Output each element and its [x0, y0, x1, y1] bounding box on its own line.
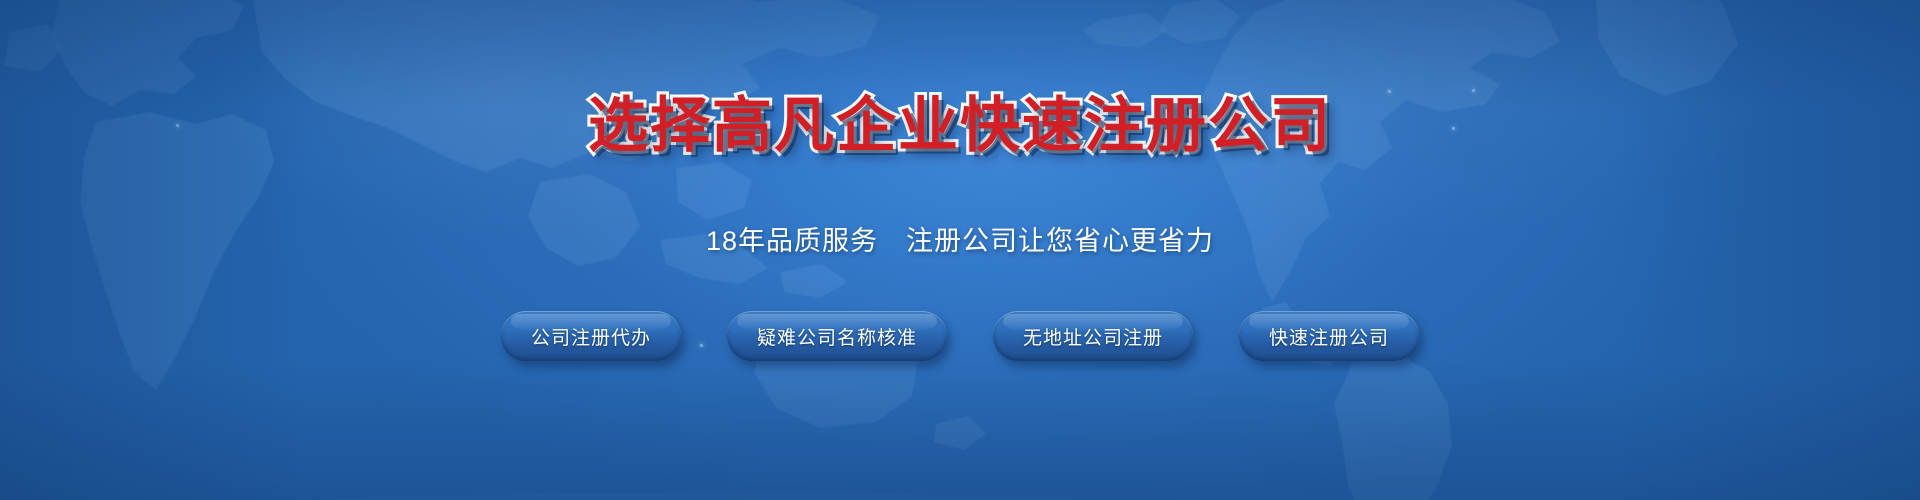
page-subtitle: 18年品质服务 注册公司让您省心更省力 [706, 228, 1214, 255]
banner-content: 选择高凡企业快速注册公司 18年品质服务 注册公司让您省心更省力 公司注册代办 … [0, 0, 1920, 500]
cta-button-no-address-registration[interactable]: 无地址公司注册 [993, 311, 1193, 361]
page-title: 选择高凡企业快速注册公司 [588, 96, 1332, 156]
promo-banner: 选择高凡企业快速注册公司 18年品质服务 注册公司让您省心更省力 公司注册代办 … [0, 0, 1920, 500]
cta-button-difficult-name-approval[interactable]: 疑难公司名称核准 [727, 311, 947, 361]
cta-button-company-registration-agency[interactable]: 公司注册代办 [501, 311, 681, 361]
cta-button-row: 公司注册代办 疑难公司名称核准 无地址公司注册 快速注册公司 [501, 311, 1419, 361]
cta-button-fast-registration[interactable]: 快速注册公司 [1239, 311, 1419, 361]
